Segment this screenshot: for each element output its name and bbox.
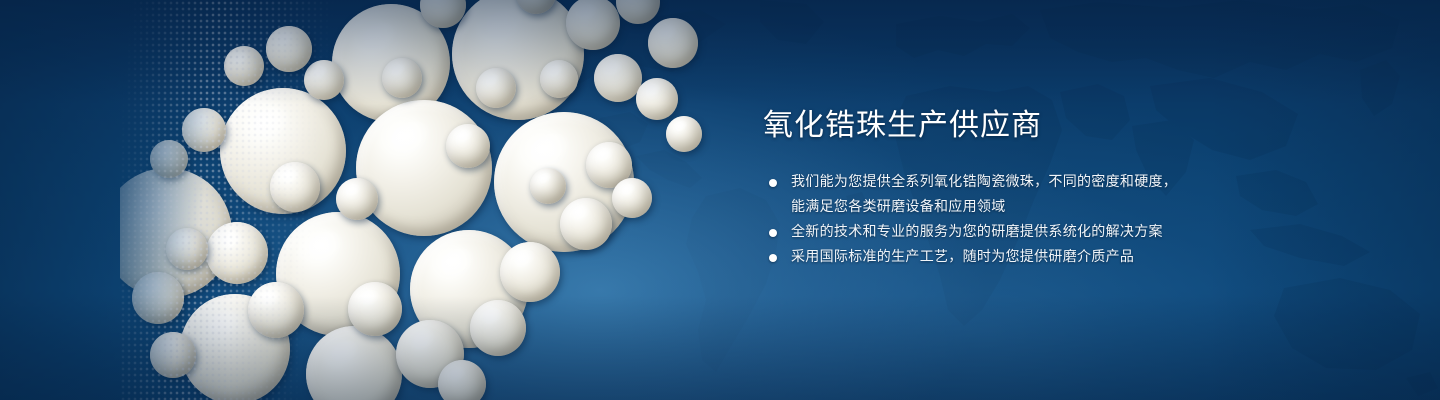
hero-banner: 氧化锆珠生产供应商 我们能为您提供全系列氧化锆陶瓷微珠，不同的密度和硬度， 能满… — [0, 0, 1440, 400]
bullet-text-line1: 全新的技术和专业的服务为您的研磨提供系统化的解决方案 — [791, 224, 1163, 240]
bullet-dot-icon — [769, 254, 777, 262]
banner-headline: 氧化锆珠生产供应商 — [763, 106, 1233, 146]
list-item: 采用国际标准的生产工艺，随时为您提供研磨介质产品 — [763, 245, 1233, 270]
bullet-dot-icon — [769, 229, 777, 237]
feature-bullet-list: 我们能为您提供全系列氧化锆陶瓷微珠，不同的密度和硬度， 能满足您各类研磨设备和应… — [763, 170, 1233, 270]
list-item: 全新的技术和专业的服务为您的研磨提供系统化的解决方案 — [763, 220, 1233, 245]
bullet-text-line1: 我们能为您提供全系列氧化锆陶瓷微珠，不同的密度和硬度， — [791, 174, 1177, 190]
bullet-text-line1: 采用国际标准的生产工艺，随时为您提供研磨介质产品 — [791, 249, 1134, 265]
banner-copy: 氧化锆珠生产供应商 我们能为您提供全系列氧化锆陶瓷微珠，不同的密度和硬度， 能满… — [763, 106, 1233, 270]
bullet-text-line2: 能满足您各类研磨设备和应用领域 — [791, 195, 1233, 220]
list-item: 我们能为您提供全系列氧化锆陶瓷微珠，不同的密度和硬度， 能满足您各类研磨设备和应… — [763, 170, 1233, 220]
bullet-dot-icon — [769, 179, 777, 187]
